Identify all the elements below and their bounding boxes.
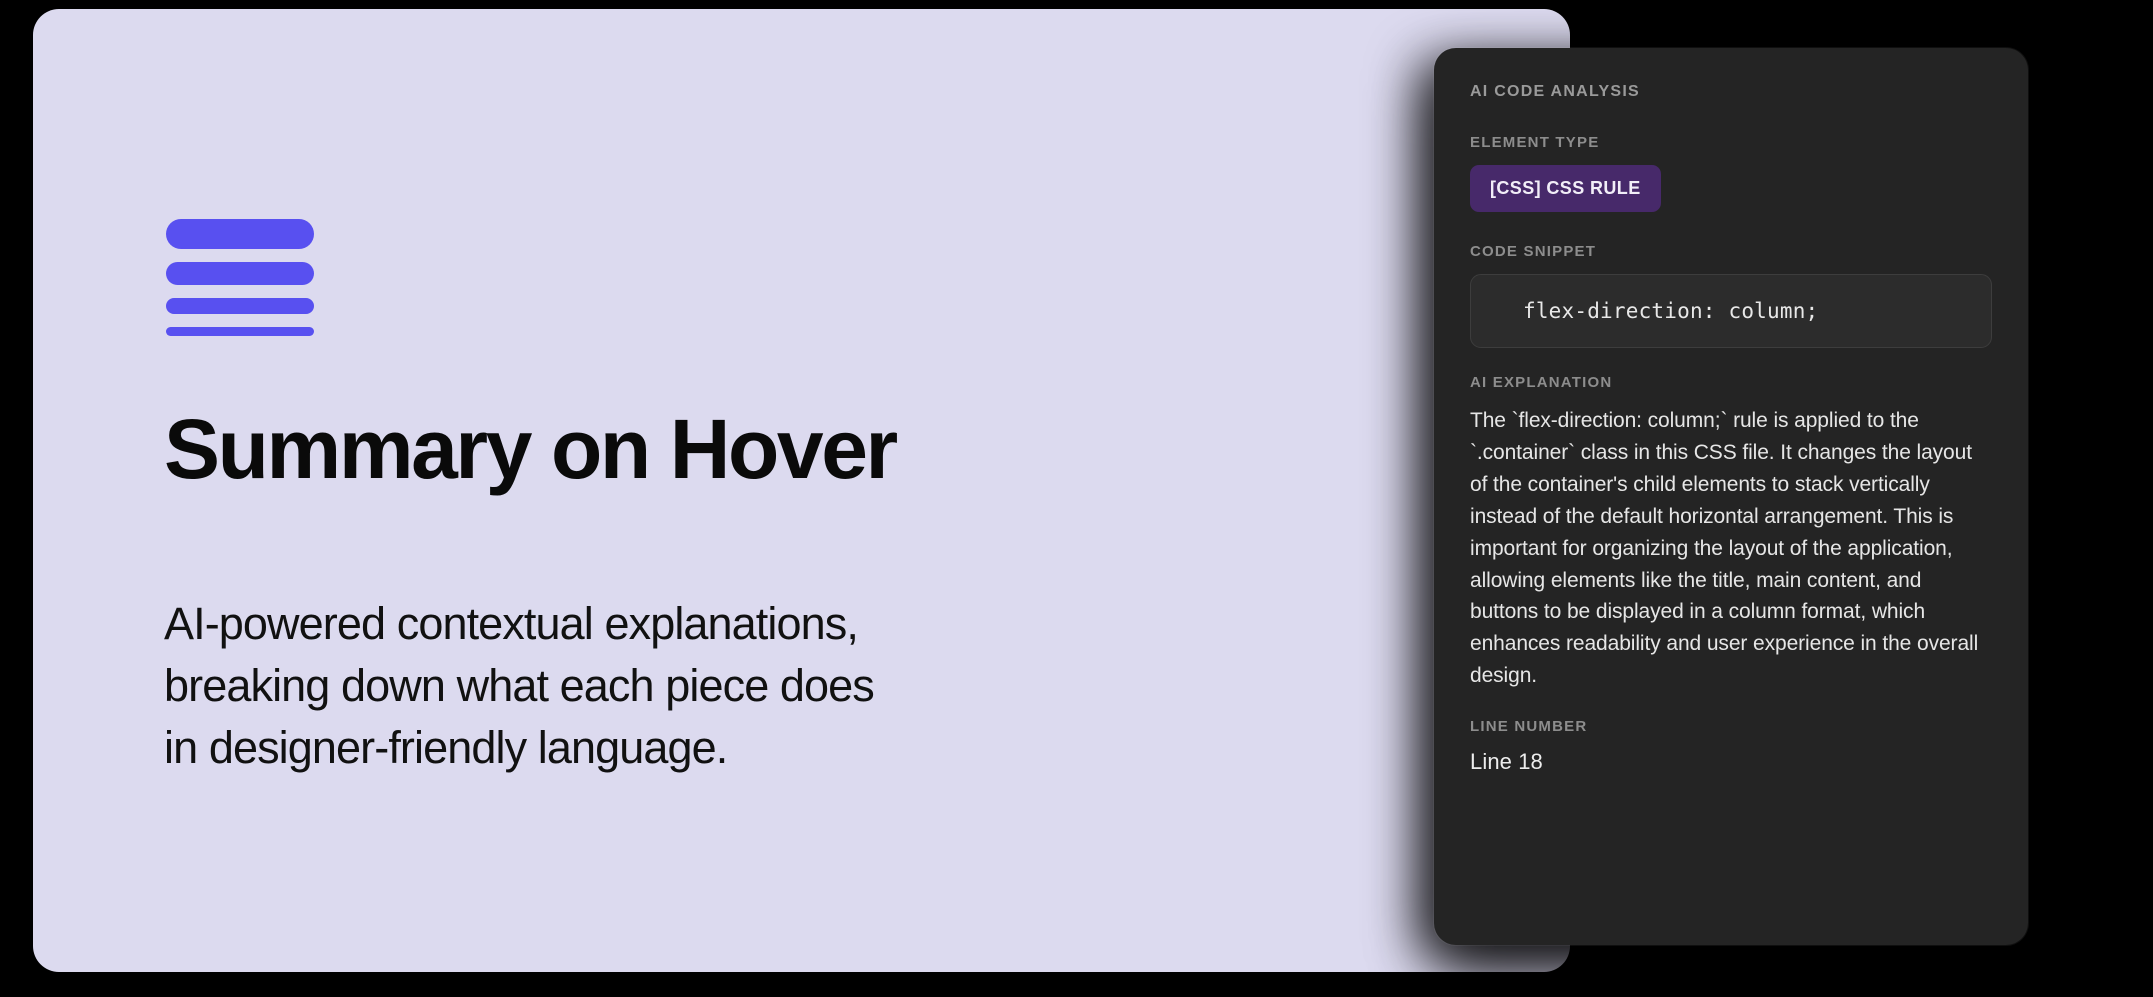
text-lines-icon-bar-1: [166, 219, 314, 249]
text-lines-icon: [166, 219, 314, 336]
feature-description-line-1: AI-powered contextual explanations,: [164, 593, 1084, 655]
spacer: [1470, 692, 1992, 718]
feature-card: Summary on Hover AI-powered contextual e…: [33, 9, 1570, 972]
feature-description-line-3: in designer-friendly language.: [164, 717, 1084, 779]
code-snippet-text: flex-direction: column;: [1523, 299, 1818, 323]
code-snippet-box[interactable]: flex-direction: column;: [1470, 274, 1992, 348]
ai-explanation-label: AI EXPLANATION: [1470, 374, 1992, 391]
code-snippet-label: CODE SNIPPET: [1470, 243, 1992, 260]
screenshot-stage: Summary on Hover AI-powered contextual e…: [0, 0, 2153, 997]
text-lines-icon-bar-2: [166, 262, 314, 285]
line-number-label: LINE NUMBER: [1470, 718, 1992, 735]
text-lines-icon-bar-4: [166, 327, 314, 336]
spacer: [1470, 212, 1992, 243]
text-lines-icon-bar-3: [166, 298, 314, 314]
line-number-value: Line 18: [1470, 749, 1992, 775]
element-type-badge[interactable]: [CSS] CSS RULE: [1470, 165, 1661, 212]
panel-title: AI CODE ANALYSIS: [1470, 83, 1992, 101]
feature-title: Summary on Hover: [164, 407, 896, 493]
ai-code-analysis-panel: AI CODE ANALYSIS ELEMENT TYPE [CSS] CSS …: [1434, 48, 2028, 945]
ai-explanation-text: The `flex-direction: column;` rule is ap…: [1470, 405, 1992, 692]
spacer: [1470, 348, 1992, 374]
element-type-label: ELEMENT TYPE: [1470, 134, 1992, 151]
feature-description-line-2: breaking down what each piece does: [164, 655, 1084, 717]
feature-description: AI-powered contextual explanations, brea…: [164, 593, 1084, 779]
